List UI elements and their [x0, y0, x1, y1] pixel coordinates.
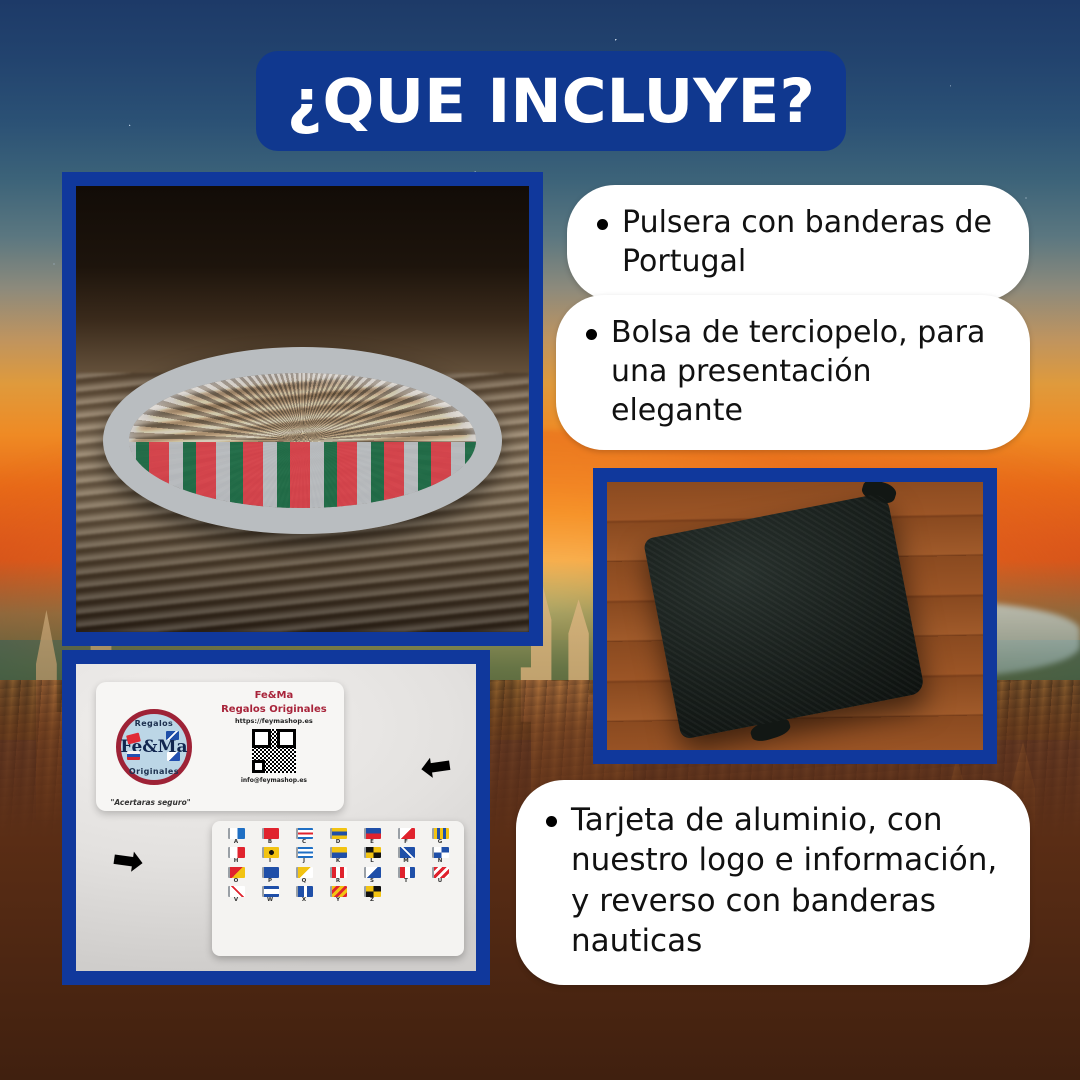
nautical-flag-cell: J: [288, 847, 320, 865]
nautical-flag-cell: U: [424, 867, 456, 885]
nautical-flag-letter: Q: [302, 879, 307, 885]
nautical-flag-letter: S: [370, 879, 374, 885]
nautical-flag-cell: T: [390, 867, 422, 885]
bullet-point-icon: [597, 219, 608, 230]
business-card-email: info@feymashop.es: [241, 777, 307, 784]
nautical-flag-icon-s: [364, 867, 381, 878]
nautical-flag-letter: N: [438, 859, 443, 865]
bullet-point-icon: [546, 816, 557, 827]
nautical-flag-letter: R: [336, 879, 340, 885]
business-card-info: Fe&Ma Regalos Originales https://feymash…: [210, 687, 338, 806]
business-card-logo-area: Regalos Fe&Ma Originales: [102, 687, 206, 806]
nautical-flag-icon-z: [364, 886, 381, 897]
feature-text-pouch: Bolsa de terciopelo, para una presentaci…: [611, 313, 1000, 430]
nautical-flag-icon-k: [330, 847, 347, 858]
nautical-flag-icon-o: [228, 867, 245, 878]
nautical-flag-icon-f: [398, 828, 415, 839]
nautical-flag-icon-c: [296, 828, 313, 839]
business-card-brand-line1: Fe&Ma: [255, 690, 294, 702]
arrow-left-icon: ⬅: [418, 745, 455, 787]
nautical-flag-icon-t: [398, 867, 415, 878]
velvet-pouch-photo-frame: [593, 468, 997, 764]
logo-flag-icon-2: [166, 731, 179, 740]
nautical-flag-letter: I: [269, 859, 271, 865]
aluminium-card-photo-frame: Regalos Fe&Ma Originales Fe&Ma Regalos O…: [62, 650, 490, 985]
business-card-slogan: "Acertaras seguro": [96, 798, 205, 807]
nautical-flag-cell: G: [424, 828, 456, 846]
nautical-flag-cell: V: [220, 886, 252, 904]
feature-text-bracelet: Pulsera con banderas de Portugal: [622, 203, 999, 281]
nautical-flag-cell: Z: [356, 886, 388, 904]
logo-top-text: Regalos: [121, 719, 187, 728]
nautical-flag-letter: T: [404, 879, 408, 885]
nautical-flag-letter: M: [403, 859, 408, 865]
nautical-flag-icon-b: [262, 828, 279, 839]
nautical-flag-letter: Y: [336, 898, 340, 904]
nautical-flag-icon-m: [398, 847, 415, 858]
nautical-flag-icon-d: [330, 828, 347, 839]
nautical-flag-letter: K: [336, 859, 340, 865]
nautical-flag-letter: P: [268, 879, 272, 885]
logo-bottom-text: Originales: [121, 767, 187, 776]
nautical-flag-letter: V: [234, 898, 238, 904]
nautical-flag-icon-a: [228, 828, 245, 839]
feature-card-bracelet: Pulsera con banderas de Portugal: [567, 185, 1029, 301]
nautical-flag-cell: O: [220, 867, 252, 885]
nautical-flags-card-back: ABCDEFGHIJKLMNOPQRSTUVWXYZ: [212, 821, 464, 956]
nautical-flag-cell: M: [390, 847, 422, 865]
nautical-flag-letter: O: [234, 879, 239, 885]
nautical-flag-icon-y: [330, 886, 347, 897]
nautical-flag-letter: E: [370, 840, 374, 846]
bracelet-photo: [76, 186, 529, 632]
nautical-flag-icon-n: [432, 847, 449, 858]
nautical-flag-cell: B: [254, 828, 286, 846]
nautical-flag-cell: N: [424, 847, 456, 865]
feature-card-aluminium-card: Tarjeta de aluminio, con nuestro logo e …: [516, 780, 1030, 985]
nautical-flag-icon-x: [296, 886, 313, 897]
nautical-flag-cell: W: [254, 886, 286, 904]
nautical-flag-letter: L: [370, 859, 374, 865]
nautical-flag-letter: D: [336, 840, 341, 846]
bracelet-portugal-flags: [129, 442, 476, 510]
nautical-flag-letter: U: [438, 879, 442, 885]
business-card-front: Regalos Fe&Ma Originales Fe&Ma Regalos O…: [96, 682, 344, 811]
nautical-flag-cell: X: [288, 886, 320, 904]
nautical-flag-icon-h: [228, 847, 245, 858]
fema-logo: Regalos Fe&Ma Originales: [116, 709, 192, 785]
nautical-flag-cell: I: [254, 847, 286, 865]
nautical-flag-cell: K: [322, 847, 354, 865]
page-title-banner: ¿QUE INCLUYE?: [256, 51, 846, 151]
page-title: ¿QUE INCLUYE?: [287, 71, 815, 132]
nautical-flag-cell: Y: [322, 886, 354, 904]
logo-flag-icon-3: [127, 751, 140, 760]
nautical-flag-icon-w: [262, 886, 279, 897]
nautical-flag-icon-l: [364, 847, 381, 858]
arrow-right-icon: ➡: [110, 839, 147, 881]
nautical-flag-cell: F: [390, 828, 422, 846]
nautical-flag-cell: A: [220, 828, 252, 846]
nautical-flag-icon-j: [296, 847, 313, 858]
nautical-flag-letter: J: [303, 859, 305, 865]
feature-card-pouch: Bolsa de terciopelo, para una presentaci…: [556, 295, 1030, 450]
nautical-flag-icon-v: [228, 886, 245, 897]
nautical-flag-letter: C: [302, 840, 306, 846]
business-card-brand-line2: Regalos Originales: [221, 704, 327, 716]
nautical-flag-letter: F: [404, 840, 408, 846]
nautical-flag-cell: Q: [288, 867, 320, 885]
nautical-flag-letter: Z: [370, 898, 374, 904]
nautical-flag-icon-i: [262, 847, 279, 858]
nautical-flag-cell: R: [322, 867, 354, 885]
nautical-flag-letter: A: [234, 840, 238, 846]
nautical-flag-letter: W: [267, 898, 273, 904]
bracelet-product: [103, 347, 502, 534]
nautical-flag-icon-r: [330, 867, 347, 878]
nautical-flag-cell: L: [356, 847, 388, 865]
nautical-flag-letter: X: [302, 898, 306, 904]
business-card-url: https://feymashop.es: [235, 717, 313, 725]
feature-text-aluminium-card: Tarjeta de aluminio, con nuestro logo e …: [571, 800, 1000, 961]
velvet-pouch-photo: [607, 482, 983, 750]
aluminium-card-photo: Regalos Fe&Ma Originales Fe&Ma Regalos O…: [76, 664, 476, 971]
nautical-flag-letter: B: [268, 840, 272, 846]
nautical-flag-icon-g: [432, 828, 449, 839]
nautical-flag-icon-e: [364, 828, 381, 839]
nautical-flag-cell: E: [356, 828, 388, 846]
nautical-flag-cell: H: [220, 847, 252, 865]
nautical-flag-letter: H: [234, 859, 239, 865]
nautical-flag-cell: C: [288, 828, 320, 846]
nautical-flag-cell: S: [356, 867, 388, 885]
bullet-point-icon: [586, 329, 597, 340]
nautical-flag-icon-p: [262, 867, 279, 878]
qr-code-icon: [252, 729, 296, 773]
nautical-flag-cell: D: [322, 828, 354, 846]
nautical-flag-cell: P: [254, 867, 286, 885]
bracelet-photo-frame: [62, 172, 543, 646]
logo-flag-icon-4: [167, 752, 180, 761]
nautical-flag-letter: G: [438, 840, 443, 846]
nautical-flag-icon-u: [432, 867, 449, 878]
nautical-flag-icon-q: [296, 867, 313, 878]
